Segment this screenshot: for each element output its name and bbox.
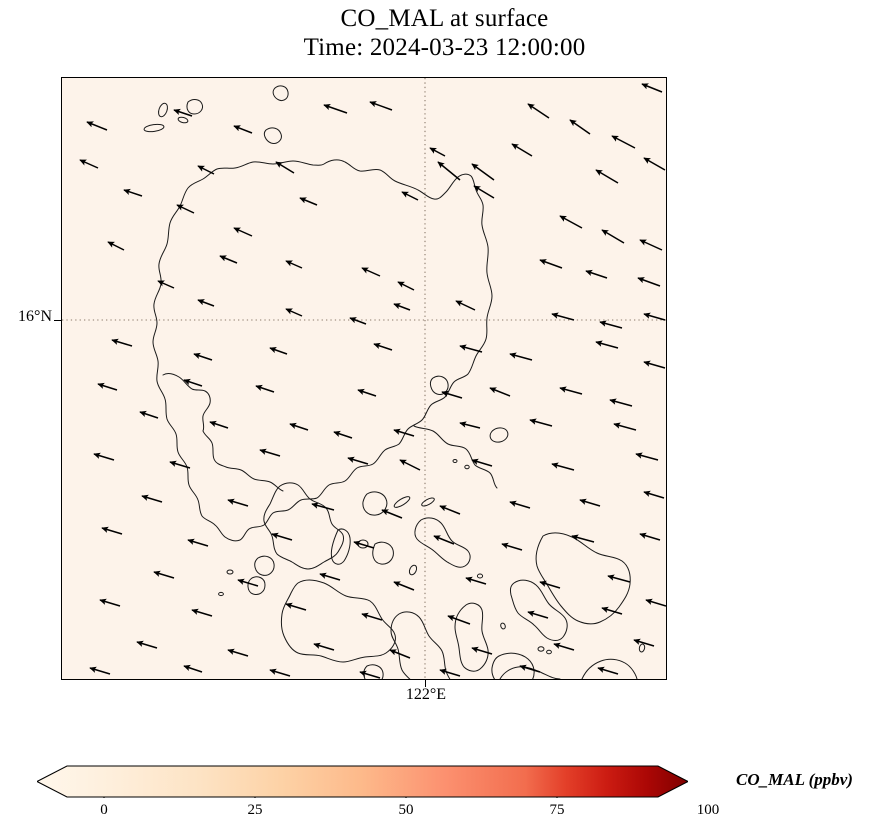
map-plot-area[interactable] xyxy=(61,77,667,680)
colorbar-tick-0: 0 xyxy=(84,802,124,819)
colorbar[interactable] xyxy=(37,765,688,798)
ytick-mark-16n xyxy=(54,320,61,321)
ytick-label-16n: 16°N xyxy=(8,308,52,326)
map-canvas xyxy=(62,78,666,679)
chart-subtitle-time: Time: 2024-03-23 12:00:00 xyxy=(0,33,889,62)
colorbar-tick-75: 75 xyxy=(537,802,577,819)
colorbar-tick-50: 50 xyxy=(386,802,426,819)
chart-title-block: CO_MAL at surface Time: 2024-03-23 12:00… xyxy=(0,4,889,62)
figure-canvas: CO_MAL at surface Time: 2024-03-23 12:00… xyxy=(0,0,889,836)
xtick-label-122e: 122°E xyxy=(380,686,472,704)
colorbar-gradient-bar xyxy=(37,766,688,797)
colorbar-tick-25: 25 xyxy=(235,802,275,819)
colorbar-tick-100: 100 xyxy=(688,802,728,819)
colorbar-label: CO_MAL (ppbv) xyxy=(736,770,853,790)
concentration-field-raster xyxy=(62,78,666,679)
colorbar-canvas xyxy=(37,765,688,798)
chart-title: CO_MAL at surface xyxy=(0,4,889,33)
